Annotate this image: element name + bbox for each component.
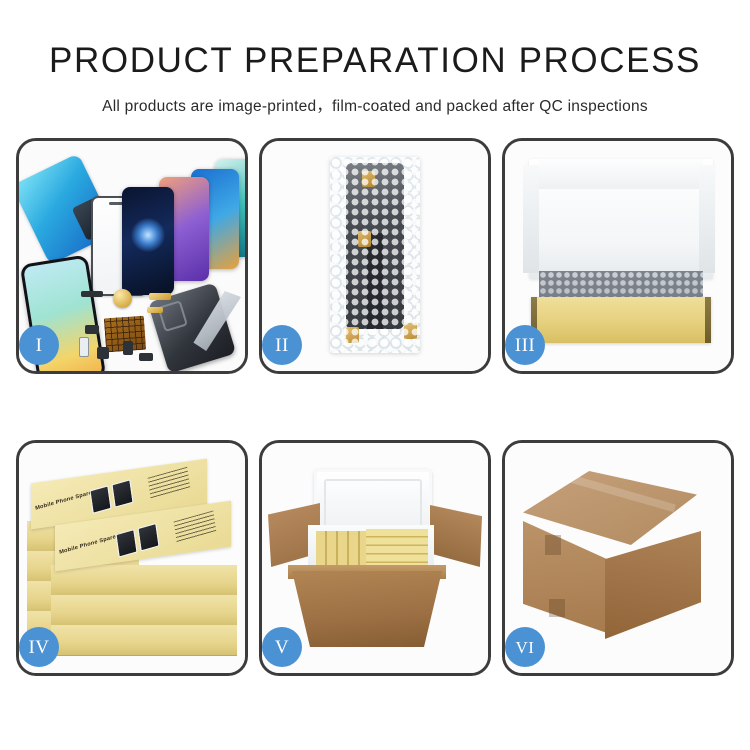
carton-flap-right	[430, 505, 482, 567]
gold-flex-2	[147, 307, 163, 313]
process-step-grid: I II III	[16, 138, 734, 686]
small-chip-3	[97, 347, 109, 359]
flex-cable	[367, 233, 383, 329]
product-preparation-infographic: PRODUCT PREPARATION PROCESS All products…	[0, 0, 750, 750]
step-badge-2: II	[262, 325, 302, 365]
white-box-lid	[529, 159, 713, 279]
box-stack: Mobile Phone Spare Parts Mobile Phone Sp…	[25, 469, 245, 659]
box-print-screen-front-2	[137, 523, 159, 552]
small-chip-2	[85, 325, 99, 334]
box-print-screen-rear-1	[89, 485, 111, 514]
step-badge-4: IV	[19, 627, 59, 667]
yellow-box-tray	[531, 297, 711, 343]
page-subtitle: All products are image-printed，film-coat…	[0, 78, 750, 116]
phone-dark-blue	[122, 187, 174, 295]
box-front-2	[51, 595, 237, 626]
tape-piece-bottom-right	[404, 323, 417, 339]
step-panel-3[interactable]: III	[502, 138, 734, 374]
lid-right-flap	[699, 165, 715, 273]
step-badge-5: V	[262, 627, 302, 667]
page-title: PRODUCT PREPARATION PROCESS	[0, 0, 750, 78]
step-badge-1: I	[19, 325, 59, 365]
box-print-text-lines-front	[174, 510, 217, 542]
box-print-screen-front-1	[115, 529, 137, 558]
sim-tray	[79, 337, 89, 357]
carton-body	[292, 571, 442, 647]
gold-flex-1	[149, 293, 171, 300]
box-print-text-lines-rear	[148, 467, 191, 499]
step-panel-5[interactable]: V	[259, 440, 491, 676]
box-print-screen-rear-2	[111, 479, 133, 508]
carton-left-face	[523, 521, 607, 633]
step-badge-3: III	[505, 325, 545, 365]
carton-right-face	[605, 531, 701, 639]
step-panel-4[interactable]: Mobile Phone Spare Parts Mobile Phone Sp…	[16, 440, 248, 676]
box-front-1	[51, 565, 237, 596]
small-chip-1	[81, 291, 103, 297]
carton-tape-lower	[549, 599, 565, 617]
tape-piece-top	[362, 171, 375, 187]
gold-component	[113, 289, 132, 308]
box-front-3	[51, 625, 237, 656]
step-badge-6: VI	[505, 627, 545, 667]
tape-piece-bottom-left	[346, 327, 359, 343]
carton-tape-upper	[545, 535, 561, 555]
header: PRODUCT PREPARATION PROCESS All products…	[0, 0, 750, 116]
step-panel-1[interactable]: I	[16, 138, 248, 374]
small-chip-4	[123, 341, 133, 355]
step-panel-2[interactable]: II	[259, 138, 491, 374]
grey-bubble-wrap-contents	[539, 271, 703, 299]
lid-left-flap	[523, 165, 539, 273]
tape-piece-middle	[358, 231, 371, 247]
small-chip-5	[139, 353, 153, 361]
step-panel-6[interactable]: VI	[502, 440, 734, 676]
